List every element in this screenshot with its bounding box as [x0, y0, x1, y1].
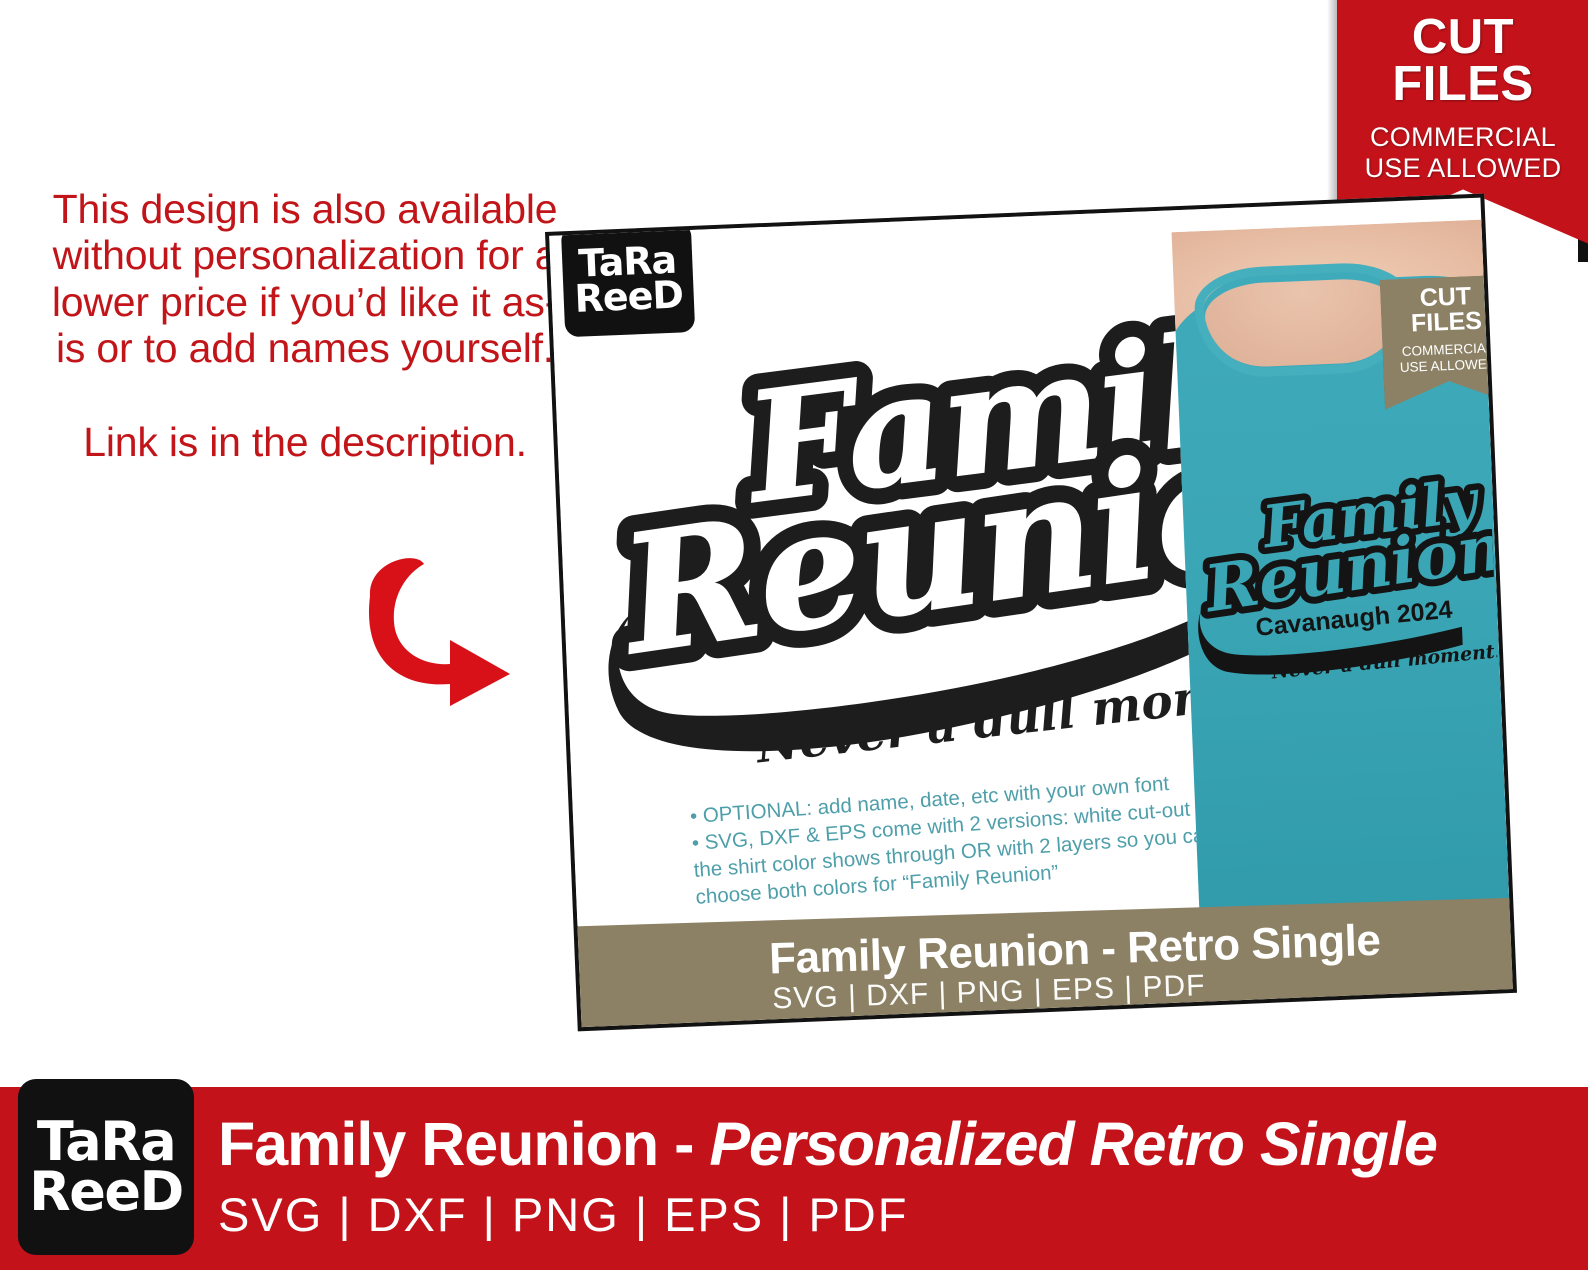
curved-arrow-right-icon [358, 556, 538, 706]
promo-text-block: This design is also available without pe… [40, 186, 570, 466]
bottom-bar-formats: SVG | DXF | PNG | EPS | PDF [218, 1187, 908, 1242]
ribbon-cut-label: CUT [1337, 14, 1588, 61]
product-listing-image: CUT FILES COMMERCIAL USE ALLOWED This de… [0, 0, 1588, 1270]
shirt-photo: Family Family Reunion Reunion Cavanaugh … [1172, 220, 1511, 952]
bullet-list: • OPTIONAL: add name, date, etc with you… [689, 766, 1235, 911]
logo-line-2: ReeD [29, 1167, 183, 1217]
inner-ribbon-files-label: FILES [1381, 307, 1511, 337]
ribbon-files-label: FILES [1337, 61, 1588, 108]
ribbon-use-allowed-label: USE ALLOWED [1337, 153, 1588, 184]
lockup-tagline: Never a dull moment! [752, 656, 1241, 774]
family-reunion-lockup: Family Family Reunion Reunion Never a du… [582, 286, 1241, 782]
ribbon-commercial-label: COMMERCIAL [1337, 122, 1588, 153]
shirt-printed-design: Family Family Reunion Reunion Cavanaugh … [1190, 469, 1498, 691]
tara-reed-logo-bottom: TaRa ReeD [18, 1079, 194, 1255]
promo-paragraph-2: Link is in the description. [40, 419, 570, 465]
bottom-bar-title: Family Reunion - Personalized Retro Sing… [218, 1109, 1437, 1179]
promo-paragraph-1: This design is also available without pe… [40, 186, 570, 371]
logo-line-2: ReeD [574, 277, 684, 316]
bottom-title-bar: Family Reunion - Personalized Retro Sing… [0, 1087, 1588, 1270]
product-card: Family Family Reunion Reunion Never a du… [545, 193, 1517, 1031]
bottom-title-italic: Personalized Retro Single [709, 1110, 1437, 1178]
bottom-title-regular: Family Reunion - [218, 1110, 709, 1178]
tara-reed-logo-card: TaRa ReeD [561, 222, 695, 337]
